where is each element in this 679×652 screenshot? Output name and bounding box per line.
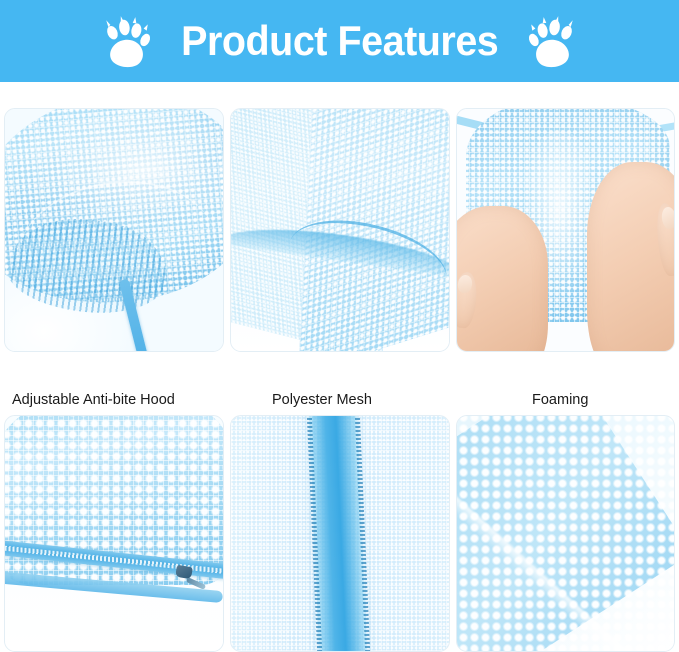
page-header-banner: Product Features: [0, 0, 679, 82]
feature-gallery: Adjustable Anti-bite Hood Polyester Mesh…: [0, 82, 679, 652]
feature-label-adjustable-anti-bite-hood: Adjustable Anti-bite Hood: [12, 390, 175, 410]
feature-image-polyester-mesh[interactable]: [230, 108, 450, 352]
feature-row-bottom: [0, 415, 679, 652]
feature-label-polyester-mesh: Polyester Mesh: [272, 390, 372, 410]
paw-print-icon: [526, 14, 578, 68]
feature-image-reinforced-seam[interactable]: [230, 415, 450, 652]
polyester-mesh-photo: [231, 109, 449, 351]
feature-image-adjustable-anti-bite-hood[interactable]: [4, 108, 224, 352]
hand-right: [587, 162, 674, 351]
paw-print-icon: [101, 14, 153, 68]
foaming-hands-photo: [457, 109, 674, 351]
mesh-texture-photo: [457, 416, 674, 651]
seam-photo: [231, 416, 449, 651]
page-title: Product Features: [181, 20, 498, 62]
hand-left: [457, 206, 548, 351]
feature-image-zipper-closure[interactable]: [4, 415, 224, 652]
feature-image-foaming[interactable]: [456, 108, 675, 352]
feature-row-top: Adjustable Anti-bite Hood Polyester Mesh…: [0, 108, 679, 352]
zipper-photo: [5, 416, 223, 651]
feature-image-mesh-texture[interactable]: [456, 415, 675, 652]
feature-label-foaming: Foaming: [532, 390, 588, 410]
hood-photo: [5, 109, 223, 351]
